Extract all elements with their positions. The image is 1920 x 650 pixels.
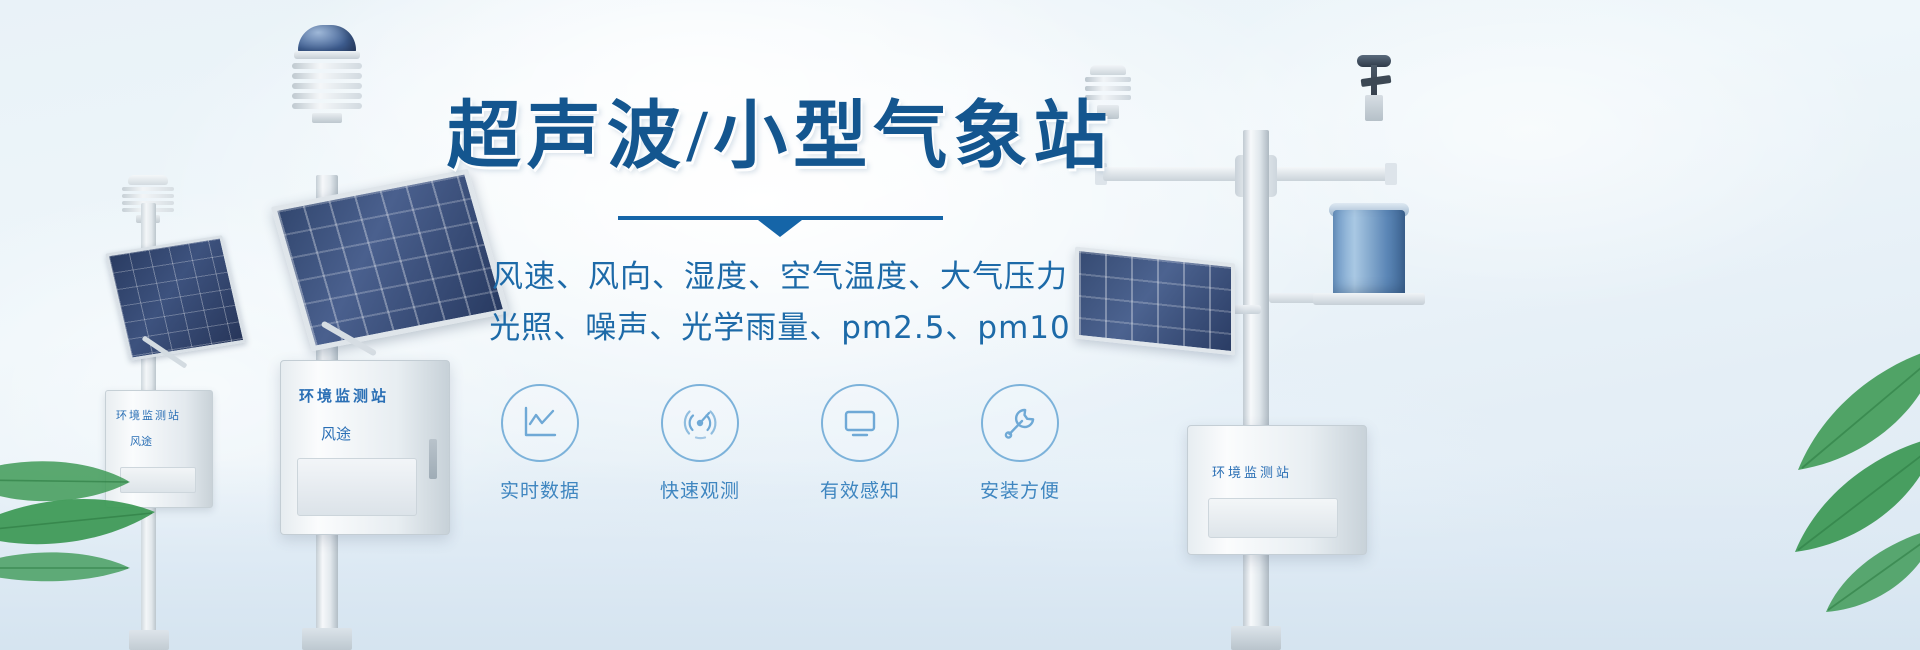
cabinet-label: 环境监测站: [1212, 462, 1292, 481]
chevron-down-icon: [758, 220, 802, 237]
station-foot: [302, 628, 352, 650]
station-foot: [129, 630, 169, 650]
crossarm-cap-right: [1385, 163, 1397, 185]
feature-label: 快速观测: [641, 476, 759, 503]
dome-ring: [294, 51, 360, 59]
feature-item-fast-observation[interactable]: 快速观测: [641, 384, 759, 503]
wind-vane-icon: [1351, 55, 1397, 125]
cabinet-label: 环境监测站: [299, 385, 389, 406]
feature-item-realtime-data[interactable]: 实时数据: [481, 384, 599, 503]
line-chart-icon: [501, 384, 579, 462]
subtitle-line-2: 光照、噪声、光学雨量、pm2.5、pm10: [440, 303, 1120, 354]
solar-panel: [105, 235, 247, 361]
title-divider: [618, 216, 943, 220]
cabinet-vent: [1208, 498, 1338, 538]
wrench-icon: [981, 384, 1059, 462]
cabinet-hinge: [429, 439, 437, 479]
feature-item-effective-sensing[interactable]: 有效感知: [801, 384, 919, 503]
station-mast: [1243, 130, 1269, 650]
ultrasonic-sensor-icon: [292, 61, 362, 123]
monitor-icon: [821, 384, 899, 462]
radar-wave-icon: [661, 384, 739, 462]
rain-gauge-icon: [1333, 210, 1405, 296]
product-banner: 环境监测站 风途 环境监测站 风途: [0, 0, 1920, 650]
cabinet-door: [297, 458, 417, 516]
banner-content: 超声波/小型气象站 风速、风向、湿度、空气温度、大气压力 光照、噪声、光学雨量、…: [440, 100, 1120, 503]
station-base: [1231, 626, 1281, 650]
instrument-shelf: [1313, 293, 1425, 305]
banner-subtitles: 风速、风向、湿度、空气温度、大气压力 光照、噪声、光学雨量、pm2.5、pm10: [440, 252, 1120, 354]
weather-station-right: 环境监测站: [1065, 55, 1465, 650]
feature-label: 有效感知: [801, 476, 919, 503]
control-cabinet: 环境监测站 风途: [280, 360, 450, 535]
feature-label: 安装方便: [961, 476, 1079, 503]
banner-title: 超声波/小型气象站: [440, 100, 1120, 174]
feature-label: 实时数据: [481, 476, 599, 503]
control-cabinet: 环境监测站 风途: [105, 390, 213, 508]
brand-logo: 风途: [321, 423, 351, 444]
subtitle-line-1: 风速、风向、湿度、空气温度、大气压力: [440, 252, 1120, 303]
feature-item-easy-install[interactable]: 安装方便: [961, 384, 1079, 503]
control-cabinet: 环境监测站: [1187, 425, 1367, 555]
shelf-arm: [1269, 293, 1319, 303]
cabinet-vent: [120, 467, 196, 493]
cabinet-label: 环境监测站: [116, 407, 181, 423]
feature-list: 实时数据 快速观测: [440, 384, 1120, 503]
brand-logo: 风途: [130, 433, 152, 449]
